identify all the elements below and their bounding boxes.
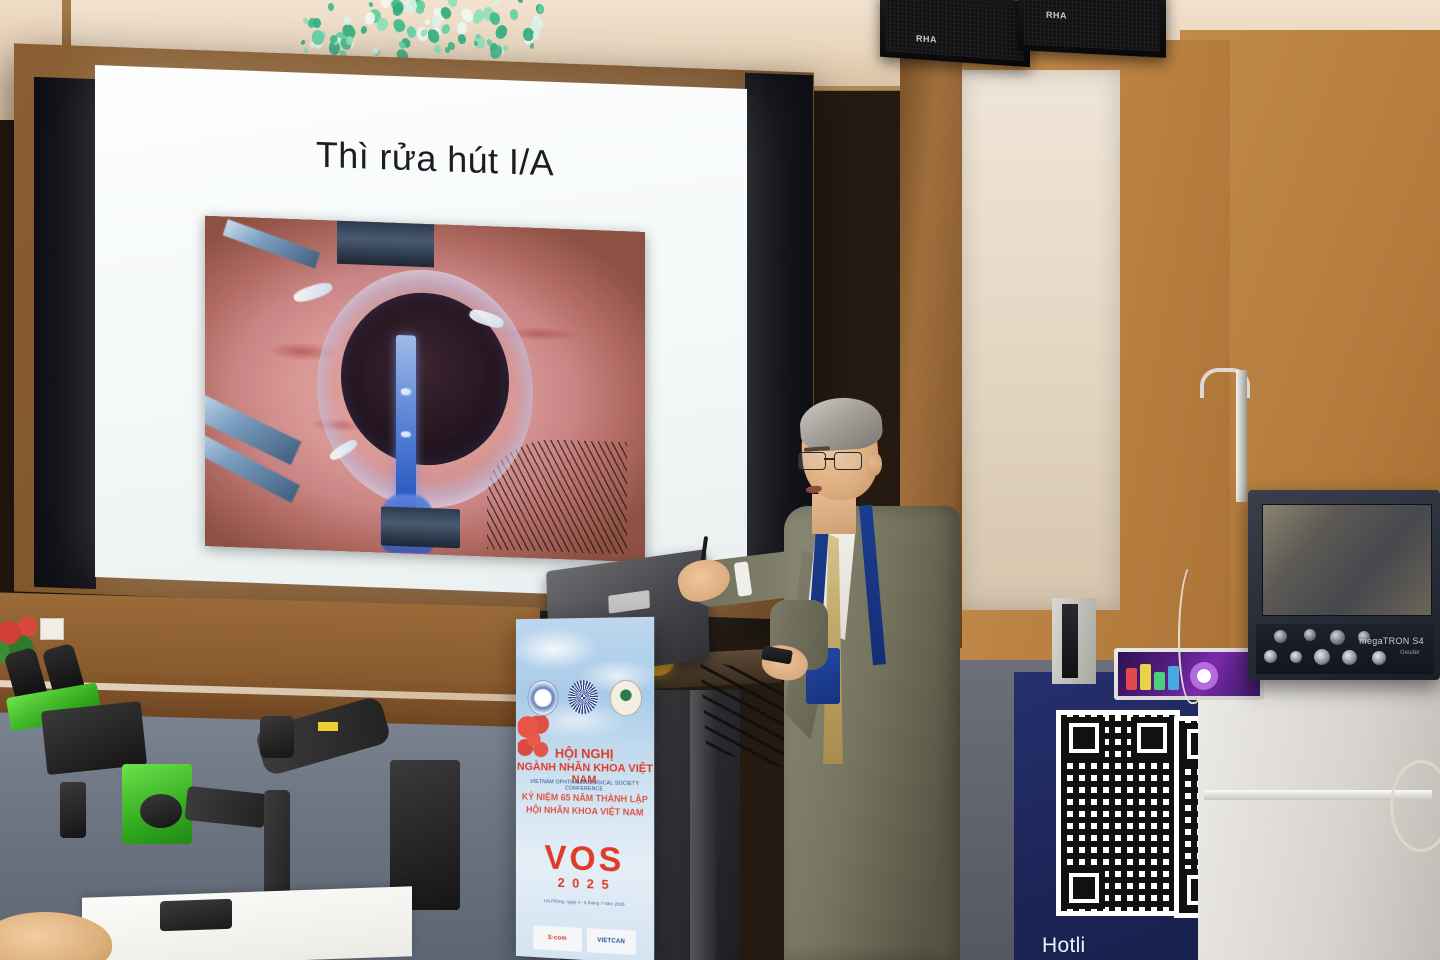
tablet-ui-chip-4	[1168, 666, 1179, 690]
chandelier-crystal	[406, 25, 417, 38]
microscope-objective-lens	[140, 794, 182, 828]
phaco-manufacturer-label: Geuder	[1400, 650, 1420, 656]
banner-society-logos	[526, 680, 645, 716]
phaco-knob-1[interactable]	[1274, 630, 1287, 643]
chandelier-crystal	[492, 0, 501, 7]
power-cable	[1178, 560, 1208, 704]
glasses-bridge	[824, 458, 834, 460]
logo-eye-icon	[527, 680, 558, 716]
laptop-sticker	[608, 590, 650, 613]
phaco-knob-3[interactable]	[1330, 630, 1345, 645]
glasses-icon	[798, 452, 864, 468]
chandelier-crystal	[380, 0, 390, 8]
phaco-port-4[interactable]	[1342, 650, 1357, 665]
chandelier-crystal	[445, 47, 450, 53]
conference-standee-banner: HỘI NGHỊ NGÀNH NHÃN KHOA VIỆT NAM VIETNA…	[516, 617, 654, 960]
hanging-cable	[1240, 700, 1284, 824]
qr-finder-topright	[1131, 717, 1173, 759]
microscope-arm-collar	[260, 716, 294, 758]
chandelier-crystal	[517, 0, 523, 3]
logo-star-icon	[568, 680, 598, 714]
glasses-lens-right	[834, 452, 862, 470]
chandelier-crystal	[343, 15, 351, 25]
phaco-machine-connector-panel: megaTRON S4 Geuder	[1256, 624, 1434, 674]
pa-speaker-left: RHA	[880, 0, 1030, 67]
chandelier-crystal	[328, 3, 334, 11]
phaco-machine-screen[interactable]	[1262, 504, 1432, 616]
surgical-photo	[205, 216, 645, 562]
microscope-lens-tube	[60, 782, 86, 838]
phaco-port-5[interactable]	[1372, 651, 1386, 665]
microscope-arm-sticker	[318, 722, 338, 731]
lid-speculum-top	[337, 221, 434, 267]
auxiliary-monitor-screen	[1062, 604, 1078, 678]
lid-speculum-bottom	[381, 506, 460, 548]
phaco-port-1[interactable]	[1264, 650, 1277, 663]
speaker-ear	[866, 452, 882, 476]
qr-finder-bottomleft	[1063, 867, 1105, 909]
tablet-ui-chip-1	[1126, 668, 1137, 690]
qr-finder-topleft	[1063, 717, 1105, 759]
iv-pole	[1236, 370, 1247, 502]
phaco-port-3[interactable]	[1314, 649, 1330, 665]
chandelier-crystal	[391, 17, 407, 34]
logo-shield-icon	[610, 680, 642, 716]
chandelier-crystal	[457, 34, 466, 45]
chandelier-crystal	[360, 25, 368, 34]
chandelier-crystal	[530, 42, 535, 48]
chandelier-crystal	[368, 1, 374, 7]
conference-photo: RHA RHA Thì rửa hút I/A	[0, 0, 1440, 960]
sponsor-logo-2: VIETCAN	[586, 928, 635, 955]
chandelier-crystal	[533, 31, 541, 41]
phaco-machine: megaTRON S4 Geuder	[1248, 490, 1440, 680]
crystal-chandelier	[300, 0, 550, 58]
cream-wall-panel	[960, 70, 1120, 610]
tablet-ui-chip-3	[1154, 672, 1165, 690]
chandelier-crystal	[424, 19, 430, 26]
chandelier-crystal	[440, 23, 451, 35]
chandelier-crystal	[434, 44, 441, 53]
chandelier-crystal	[509, 9, 519, 20]
chandelier-crystal	[303, 18, 308, 24]
foot-pedal-box[interactable]	[160, 899, 232, 932]
glasses-lens-left	[798, 452, 826, 470]
phaco-brand-label: megaTRON S4	[1359, 636, 1424, 646]
chandelier-crystal	[313, 18, 321, 28]
phaco-port-2[interactable]	[1290, 651, 1302, 663]
instrument-glint	[401, 388, 412, 395]
banner-title-line1: HỘI NGHỊ	[516, 745, 654, 762]
screen-border-left	[34, 77, 96, 589]
phaco-knob-2[interactable]	[1304, 629, 1316, 641]
sponsor-logo-1: S-com	[533, 925, 581, 952]
qr-code-left[interactable]	[1056, 710, 1180, 916]
pa-speaker-right: RHA	[1018, 0, 1166, 58]
speaker-brand-label: RHA	[916, 33, 937, 44]
chandelier-crystal	[300, 39, 306, 46]
tablet-ui-chip-2	[1140, 664, 1151, 690]
hotline-label: Hotli	[1042, 934, 1086, 958]
chandelier-crystal	[488, 11, 501, 26]
instrument-table	[82, 886, 412, 960]
speaker-brand-label-2: RHA	[1046, 10, 1067, 21]
chandelier-crystal	[304, 47, 309, 53]
